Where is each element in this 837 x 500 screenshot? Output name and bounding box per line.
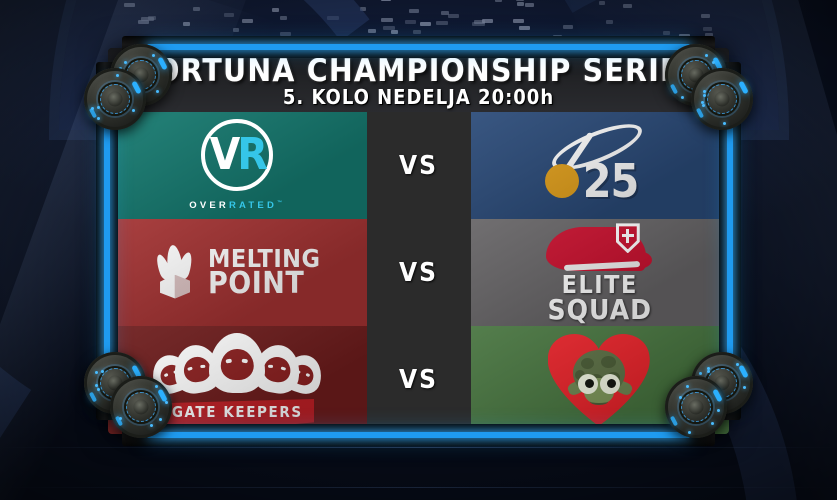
hooded-figures-icon	[152, 331, 322, 393]
match-board: FORTUNA CHAMPIONSHIP SERIES 5. KOLO NEDE…	[96, 36, 741, 446]
team-name-melting-point: MELTING POINT	[208, 247, 320, 298]
frame-rail-bottom	[122, 424, 715, 446]
vs-label: VS	[399, 151, 438, 181]
team-name-part-2: RATED	[229, 201, 277, 212]
vr-monogram-v: V	[210, 133, 238, 177]
hooded-figure-center	[209, 333, 265, 393]
vr-monogram-r: R	[237, 133, 265, 177]
turtle-pupil	[607, 379, 616, 388]
match-row: MELTING POINT VS	[108, 219, 729, 326]
vr-circle-logo-icon: VR	[201, 119, 273, 191]
vs-divider: VS	[367, 326, 471, 434]
team-logo-25: 25	[525, 124, 675, 208]
match-panel: FORTUNA CHAMPIONSHIP SERIES 5. KOLO NEDE…	[108, 48, 729, 434]
page-title: FORTUNA CHAMPIONSHIP SERIES	[108, 53, 729, 89]
vs-label: VS	[399, 258, 438, 288]
turtle-mouth	[590, 398, 608, 405]
corner-hinge-icon	[110, 376, 172, 438]
team-name-part-1: OVER	[189, 201, 229, 212]
team-cell-overrated[interactable]: VR OVERRATED™	[108, 112, 367, 219]
match-row: VR OVERRATED™ VS	[108, 112, 729, 219]
match-list: VR OVERRATED™ VS	[108, 112, 729, 434]
team-name-line-2: SQUAD	[547, 297, 652, 324]
team-cell-elite-squad[interactable]: ELITE SQUAD	[471, 219, 730, 326]
team-name-25: 25	[583, 158, 639, 204]
rail-glow	[146, 432, 692, 438]
team-name-overrated: OVERRATED™	[189, 200, 285, 211]
turtle-pupil	[585, 379, 594, 388]
team-logo-overrated: VR OVERRATED™	[189, 119, 285, 211]
team-name-line-2: POINT	[208, 270, 320, 298]
corner-hinge-icon	[691, 68, 753, 130]
team-cell-melting-point[interactable]: MELTING POINT	[108, 219, 367, 326]
vs-divider: VS	[367, 112, 471, 219]
trademark-mark: ™	[277, 200, 285, 206]
team-logo-gate-keepers: GATE KEEPERS	[152, 331, 322, 429]
team-name-gate-keepers: GATE KEEPERS	[172, 403, 303, 421]
frame-rail-top	[122, 36, 715, 58]
vs-divider: VS	[367, 219, 471, 326]
team-logo-turtle-heart	[540, 326, 660, 434]
corner-hinge-icon	[84, 68, 146, 130]
team-logo-melting-point: MELTING POINT	[154, 245, 320, 301]
flaming-ice-cube-icon	[154, 245, 198, 301]
team-logo-elite-squad: ELITE SQUAD	[546, 221, 654, 323]
rail-glow	[146, 44, 692, 50]
cross-horizontal-shape	[622, 234, 634, 237]
corner-hinge-icon	[665, 376, 727, 438]
page-subtitle: 5. KOLO NEDELJA 20:00h	[108, 85, 729, 109]
match-row: GATE KEEPERS VS	[108, 326, 729, 434]
tournament-match-card: FORTUNA CHAMPIONSHIP SERIES 5. KOLO NEDE…	[0, 0, 837, 500]
team-cell-25[interactable]: 25	[471, 112, 730, 219]
vs-label: VS	[399, 365, 438, 395]
red-beret-icon	[546, 221, 654, 273]
planet-icon	[545, 164, 579, 198]
team-name-elite-squad: ELITE SQUAD	[547, 273, 652, 323]
